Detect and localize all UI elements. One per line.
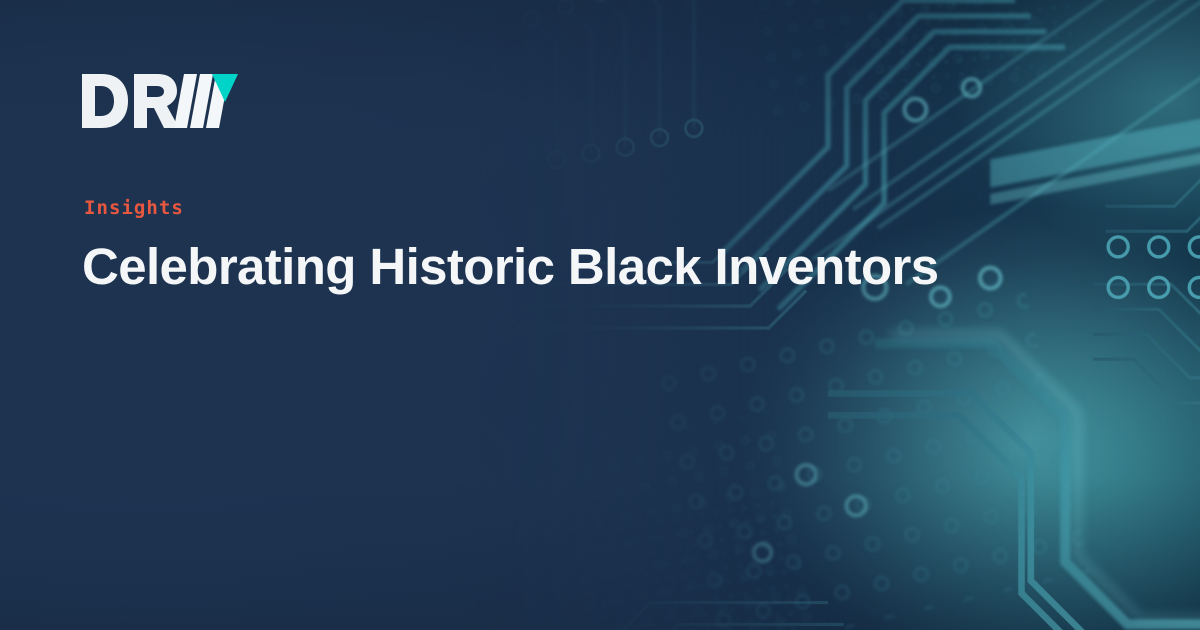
category-eyebrow: Insights (84, 197, 184, 219)
logo-letter-r (134, 74, 179, 128)
logo-letter-d (82, 74, 128, 128)
drw-logo[interactable] (80, 72, 240, 130)
drw-logo-icon (80, 72, 240, 130)
hero-content: Insights Celebrating Historic Black Inve… (0, 0, 1200, 630)
page-title: Celebrating Historic Black Inventors (82, 238, 1122, 295)
insights-hero-card: Insights Celebrating Historic Black Inve… (0, 0, 1200, 630)
